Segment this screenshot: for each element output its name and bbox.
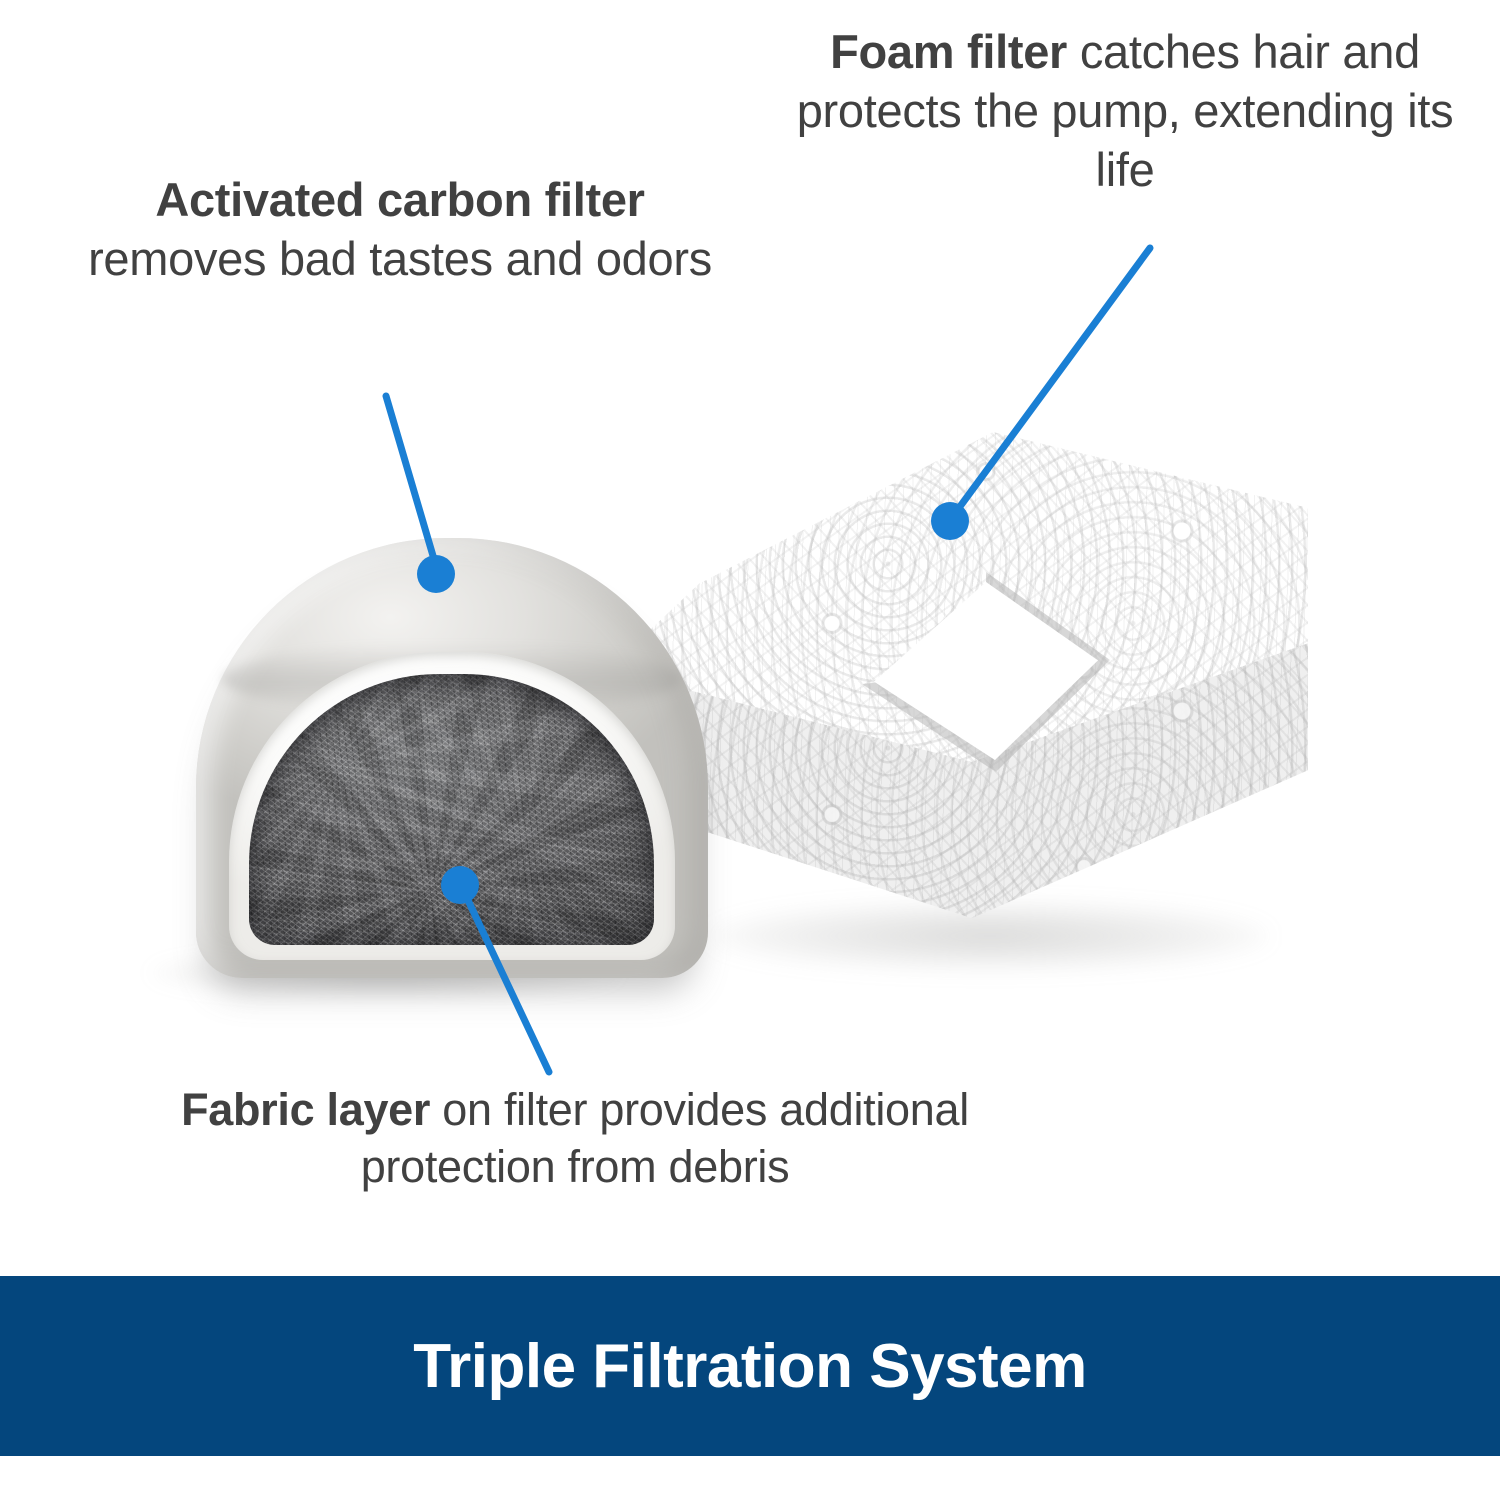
carbon-filter-carbon-core bbox=[249, 674, 654, 945]
callout-carbon-lead: Activated carbon filter bbox=[155, 173, 644, 226]
callout-activated-carbon-filter: Activated carbon filter removes bad tast… bbox=[60, 170, 740, 288]
callout-fabric-lead: Fabric layer bbox=[181, 1084, 430, 1135]
carbon-core-texture bbox=[249, 674, 654, 945]
callout-foam-filter: Foam filter catches hair and protects th… bbox=[790, 22, 1460, 200]
carbon-filter-product bbox=[196, 538, 708, 978]
callout-carbon-rest: removes bad tastes and odors bbox=[88, 232, 712, 285]
callout-fabric-rest: on filter provides additional protection… bbox=[361, 1084, 969, 1192]
callout-fabric-layer: Fabric layer on filter provides addition… bbox=[110, 1082, 1040, 1195]
infographic-page: Activated carbon filter removes bad tast… bbox=[0, 0, 1500, 1500]
banner-title: Triple Filtration System bbox=[413, 1331, 1087, 1402]
bottom-banner: Triple Filtration System bbox=[0, 1276, 1500, 1456]
callout-foam-lead: Foam filter bbox=[830, 25, 1067, 78]
product-image-stage bbox=[0, 390, 1500, 1070]
